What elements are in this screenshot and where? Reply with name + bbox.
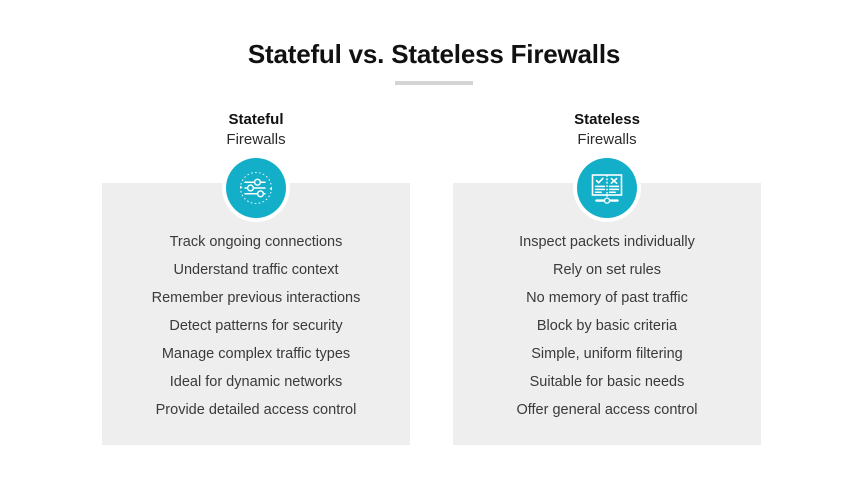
icon-badge-stateful (222, 154, 290, 222)
column-heading-strong: Stateless (453, 110, 761, 130)
icon-circle-stateless (577, 158, 637, 218)
list-item: Rely on set rules (453, 256, 761, 284)
column-heading-stateful: Stateful Firewalls (102, 110, 410, 150)
list-item: Ideal for dynamic networks (102, 368, 410, 396)
list-item: Manage complex traffic types (102, 340, 410, 368)
column-heading-light: Firewalls (102, 130, 410, 150)
list-item: Offer general access control (453, 396, 761, 424)
list-item: Simple, uniform filtering (453, 340, 761, 368)
column-stateful: Stateful Firewalls (102, 110, 410, 150)
list-item: Provide detailed access control (102, 396, 410, 424)
list-item: Block by basic criteria (453, 312, 761, 340)
icon-badge-stateless (573, 154, 641, 222)
page-title: Stateful vs. Stateless Firewalls (0, 38, 868, 70)
feature-list-stateful: Track ongoing connections Understand tra… (102, 228, 410, 424)
column-stateless: Stateless Firewalls (453, 110, 761, 150)
feature-list-stateless: Inspect packets individually Rely on set… (453, 228, 761, 424)
column-heading-light: Firewalls (453, 130, 761, 150)
icon-circle-stateful (226, 158, 286, 218)
column-heading-strong: Stateful (102, 110, 410, 130)
list-item: No memory of past traffic (453, 284, 761, 312)
list-item: Remember previous interactions (102, 284, 410, 312)
title-divider (395, 81, 473, 85)
list-item: Suitable for basic needs (453, 368, 761, 396)
column-heading-stateless: Stateless Firewalls (453, 110, 761, 150)
list-item: Detect patterns for security (102, 312, 410, 340)
list-item: Understand traffic context (102, 256, 410, 284)
infographic-root: Stateful vs. Stateless Firewalls Statefu… (0, 0, 868, 488)
list-item: Track ongoing connections (102, 228, 410, 256)
sliders-settings-icon (236, 168, 276, 208)
list-item: Inspect packets individually (453, 228, 761, 256)
rulebook-check-x-icon (587, 168, 627, 208)
